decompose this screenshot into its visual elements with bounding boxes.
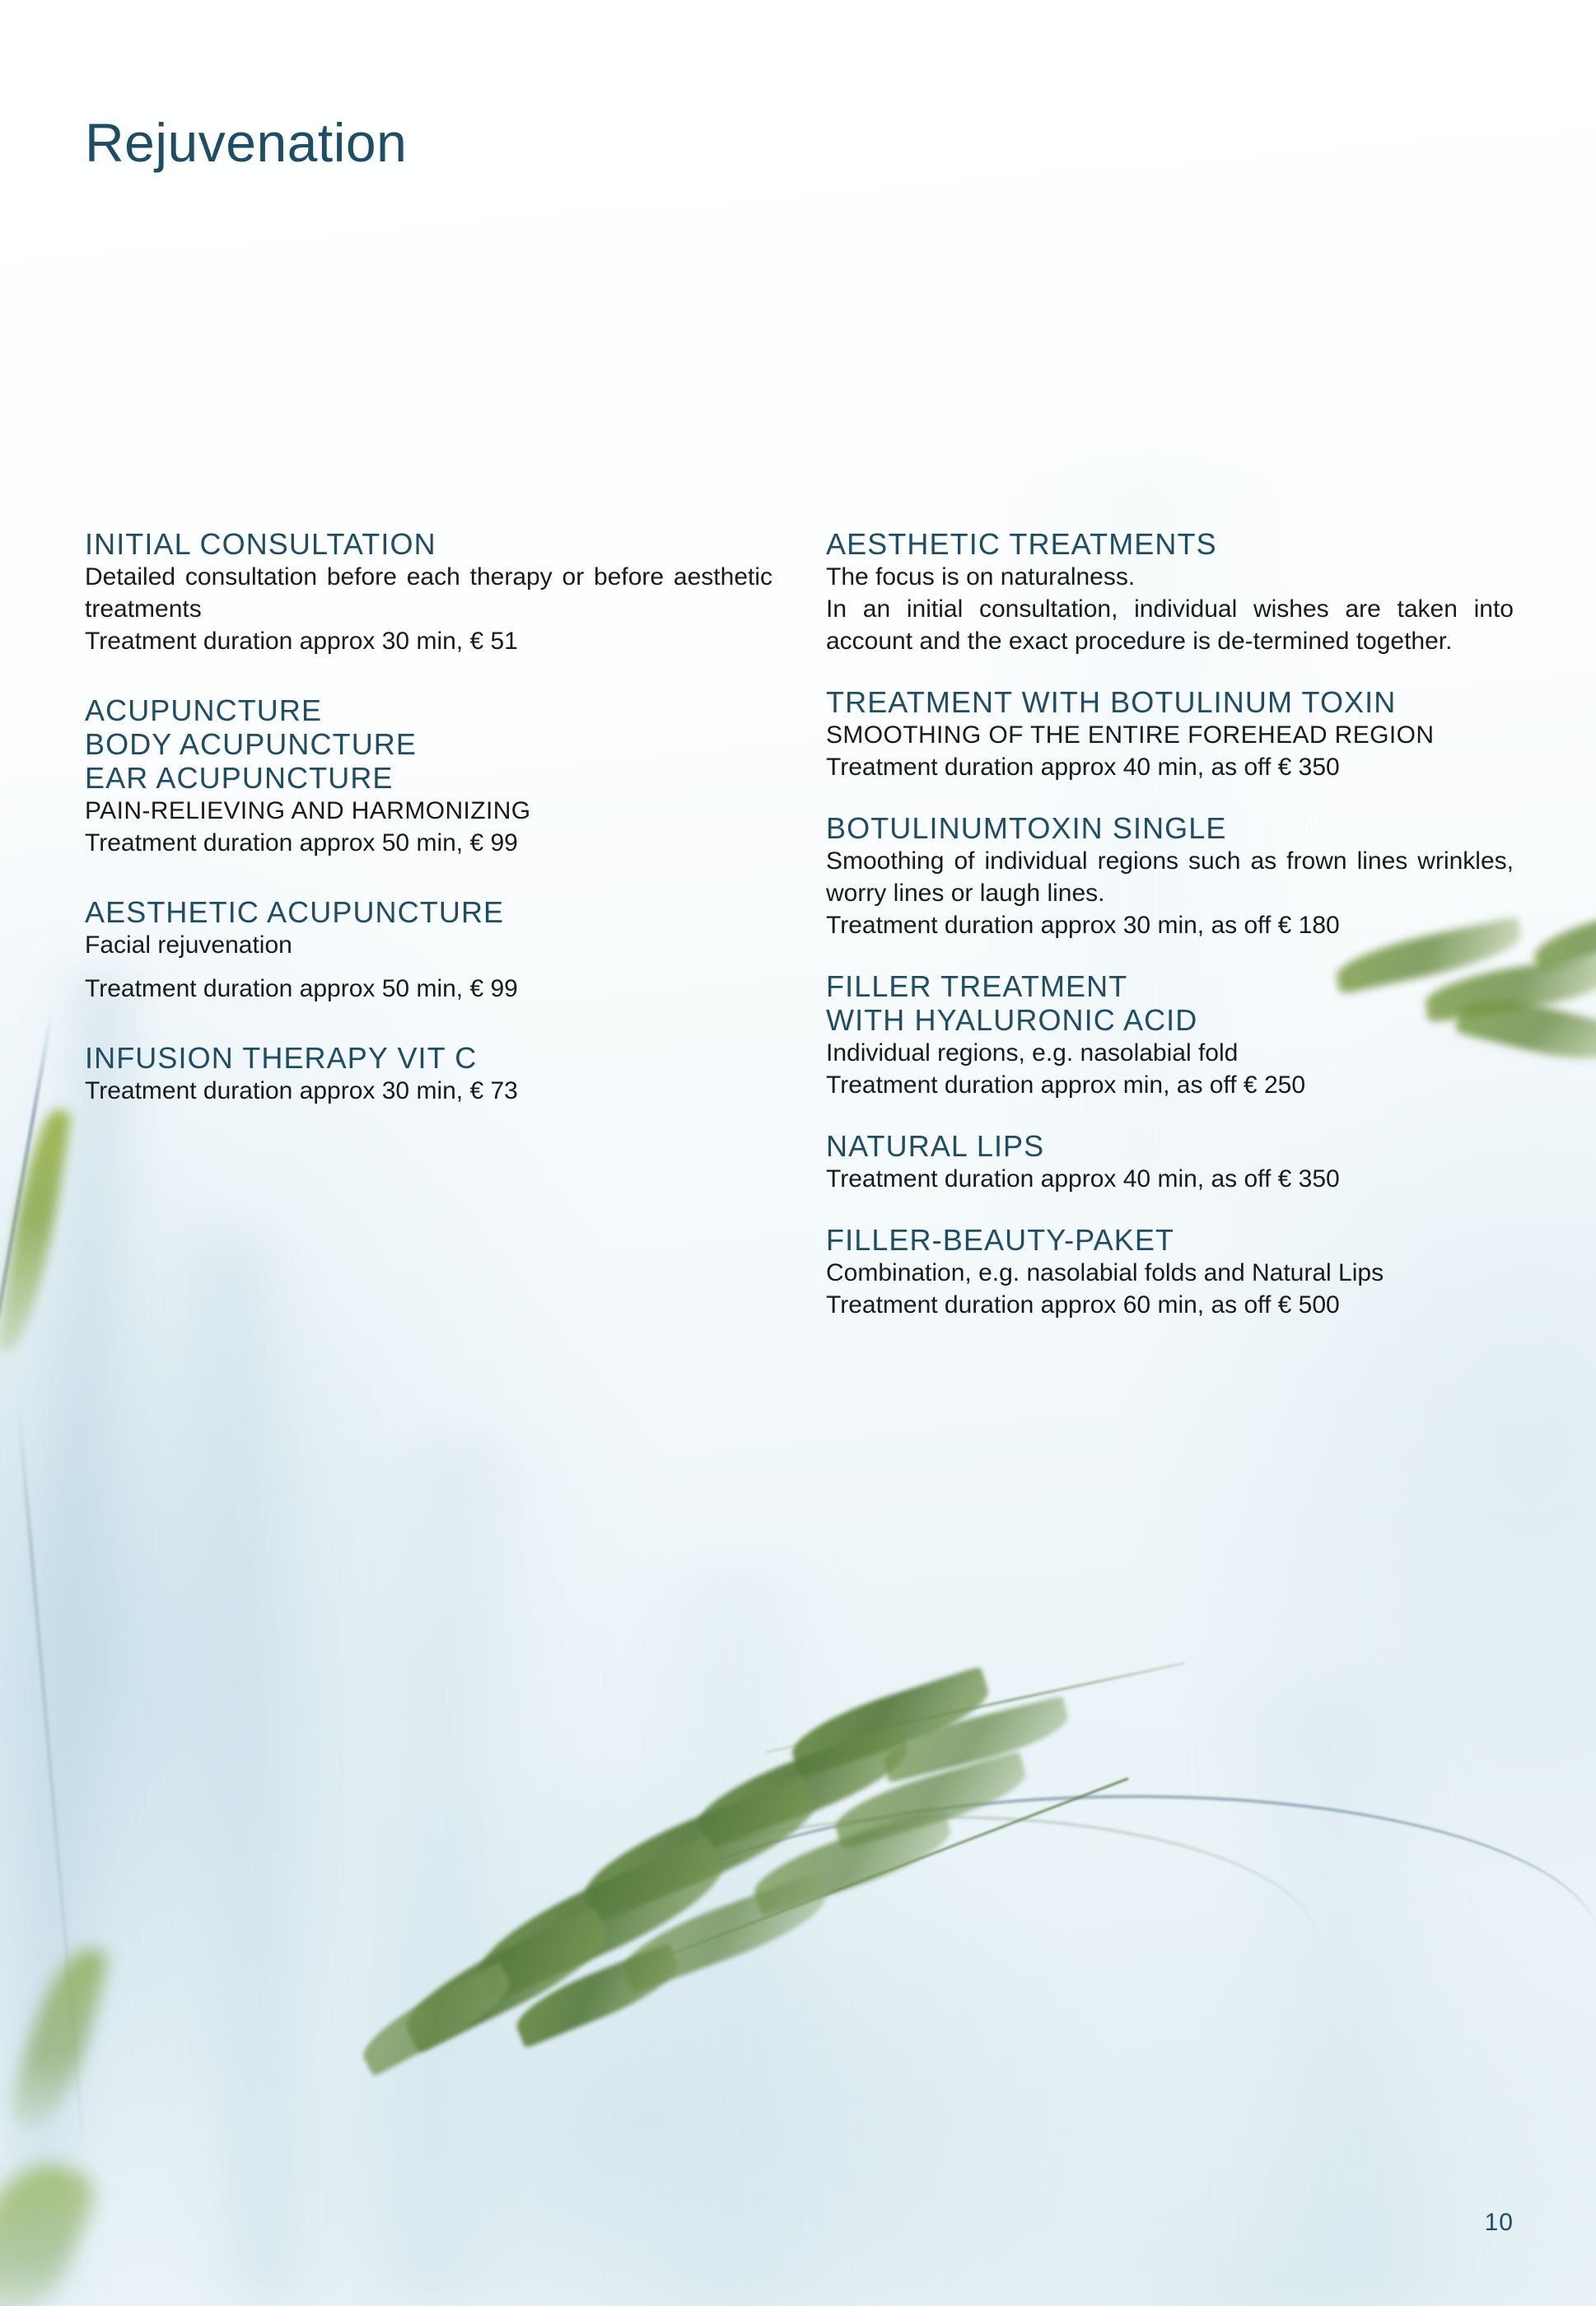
section-body: In an initial consultation, individual w… <box>826 593 1514 657</box>
section-initial-consultation: INITIAL CONSULTATION Detailed consultati… <box>85 527 772 657</box>
section-price-line: Treatment duration approx 30 min, € 51 <box>85 625 772 657</box>
section-price-line: Treatment duration approx 40 min, as off… <box>826 1163 1514 1195</box>
spacer <box>826 1195 1514 1223</box>
section-price-line: Treatment duration approx 30 min, as off… <box>826 909 1514 941</box>
spacer <box>826 1101 1514 1129</box>
section-body: Facial rejuvenation <box>85 929 772 961</box>
section-price-line: Treatment duration approx 40 min, as off… <box>826 751 1514 783</box>
spacer <box>826 783 1514 811</box>
section-heading: FILLER-BEAUTY-PAKET <box>826 1223 1514 1257</box>
right-column: AESTHETIC TREATMENTS The focus is on nat… <box>826 527 1514 1321</box>
page-number: 10 <box>1485 2209 1514 2237</box>
section-price-line: Treatment duration approx min, as off € … <box>826 1069 1514 1101</box>
section-aesthetic-acupuncture: AESTHETIC ACUPUNCTURE Facial rejuvenatio… <box>85 895 772 1005</box>
section-natural-lips: NATURAL LIPS Treatment duration approx 4… <box>826 1129 1514 1195</box>
section-filler-beauty-paket: FILLER-BEAUTY-PAKET Combination, e.g. na… <box>826 1223 1514 1321</box>
section-subheading: SMOOTHING OF THE ENTIRE FOREHEAD REGION <box>826 719 1514 751</box>
section-botulinum-toxin: TREATMENT WITH BOTULINUM TOXIN SMOOTHING… <box>826 685 1514 783</box>
section-heading: ACUPUNCTURE <box>85 693 772 727</box>
section-heading: EAR ACUPUNCTURE <box>85 761 772 795</box>
section-heading: AESTHETIC ACUPUNCTURE <box>85 895 772 929</box>
section-acupuncture: ACUPUNCTURE BODY ACUPUNCTURE EAR ACUPUNC… <box>85 693 772 859</box>
spacer <box>826 941 1514 969</box>
section-price-line: Treatment duration approx 50 min, € 99 <box>85 827 772 859</box>
spacer <box>85 961 772 973</box>
section-aesthetic-treatments: AESTHETIC TREATMENTS The focus is on nat… <box>826 527 1514 657</box>
section-heading: INFUSION THERAPY VIT C <box>85 1041 772 1075</box>
section-price-line: Treatment duration approx 60 min, as off… <box>826 1289 1514 1321</box>
section-body: Individual regions, e.g. nasolabial fold <box>826 1037 1514 1069</box>
spacer <box>85 859 772 895</box>
section-botulinumtoxin-single: BOTULINUMTOXIN SINGLE Smoothing of indiv… <box>826 811 1514 941</box>
section-price-line: Treatment duration approx 30 min, € 73 <box>85 1075 772 1107</box>
spacer <box>826 657 1514 685</box>
section-subheading: PAIN-RELIEVING AND HARMONIZING <box>85 795 772 827</box>
section-body: Smoothing of individual regions such as … <box>826 845 1514 909</box>
section-body: Combination, e.g. nasolabial folds and N… <box>826 1257 1514 1289</box>
section-heading: INITIAL CONSULTATION <box>85 527 772 561</box>
brochure-page: Rejuvenation INITIAL CONSULTATION Detail… <box>0 0 1596 2306</box>
section-filler-treatment: FILLER TREATMENT WITH HYALURONIC ACID In… <box>826 969 1514 1101</box>
section-heading: FILLER TREATMENT <box>826 969 1514 1003</box>
section-price-line: Treatment duration approx 50 min, € 99 <box>85 973 772 1005</box>
section-heading: BOTULINUMTOXIN SINGLE <box>826 811 1514 845</box>
section-heading: AESTHETIC TREATMENTS <box>826 527 1514 561</box>
spacer <box>85 657 772 693</box>
section-heading: TREATMENT WITH BOTULINUM TOXIN <box>826 685 1514 719</box>
section-heading: BODY ACUPUNCTURE <box>85 727 772 761</box>
section-body: Detailed consultation before each therap… <box>85 561 772 625</box>
section-body: The focus is on naturalness. <box>826 561 1514 593</box>
section-heading: WITH HYALURONIC ACID <box>826 1003 1514 1037</box>
page-content: Rejuvenation INITIAL CONSULTATION Detail… <box>0 0 1596 2306</box>
section-heading: NATURAL LIPS <box>826 1129 1514 1163</box>
left-column: INITIAL CONSULTATION Detailed consultati… <box>85 527 772 1107</box>
page-title: Rejuvenation <box>85 115 407 170</box>
section-infusion-therapy: INFUSION THERAPY VIT C Treatment duratio… <box>85 1041 772 1107</box>
spacer <box>85 1005 772 1041</box>
